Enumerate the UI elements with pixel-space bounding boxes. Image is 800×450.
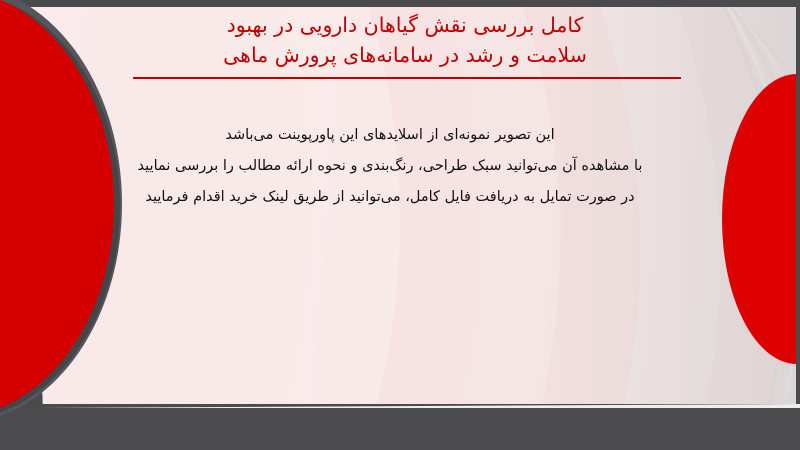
slide-right-frame: [796, 0, 800, 450]
body-line-1: این تصویر نمونه‌ای از اسلایدهای این پاور…: [110, 120, 670, 151]
slide-top-frame: [0, 0, 800, 7]
body-line-3: در صورت تمایل به دریافت فایل کامل، می‌تو…: [110, 182, 670, 213]
title-line-1: کامل بررسی نقش گیاهان دارویی در بهبود: [120, 10, 690, 40]
slide-bottom-band: [0, 404, 800, 450]
body-line-2: با مشاهده آن می‌توانید سبک طراحی، رنگ‌بن…: [110, 151, 670, 182]
slide-body-text: این تصویر نمونه‌ای از اسلایدهای این پاور…: [110, 120, 670, 213]
presentation-slide: کامل بررسی نقش گیاهان دارویی در بهبود سل…: [0, 0, 800, 450]
title-underline: [133, 77, 681, 79]
slide-title: کامل بررسی نقش گیاهان دارویی در بهبود سل…: [120, 10, 690, 70]
title-line-2: سلامت و رشد در سامانه‌های پرورش ماهی: [120, 40, 690, 70]
